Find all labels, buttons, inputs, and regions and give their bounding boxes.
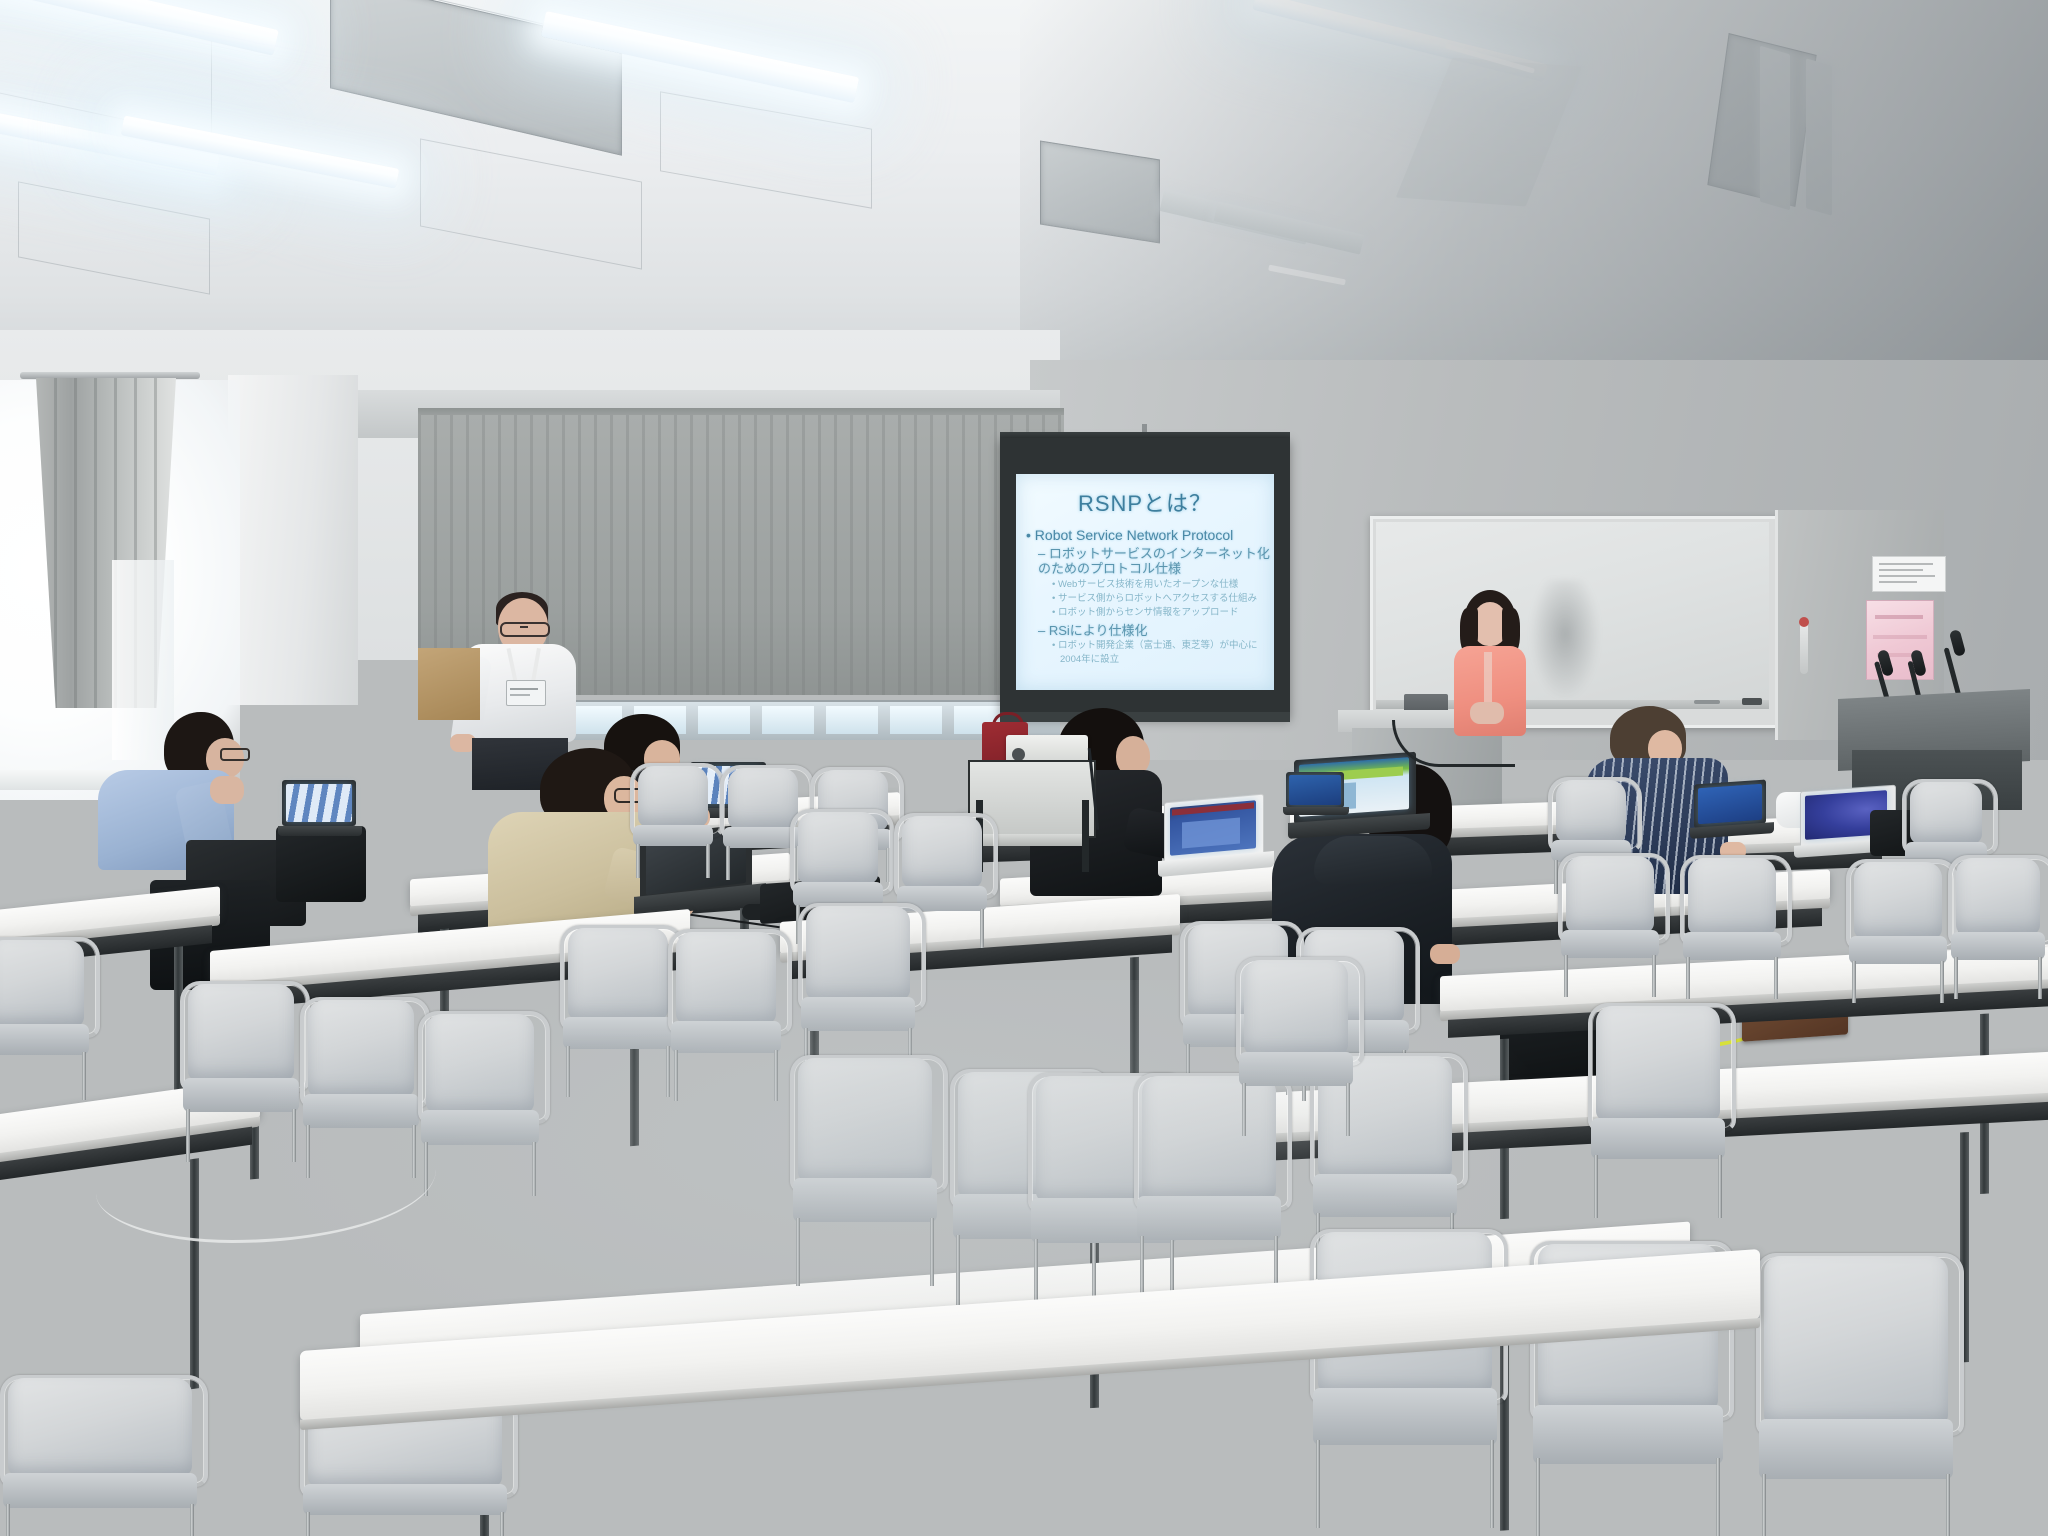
chair-row5-5[interactable] — [0, 1378, 200, 1536]
slide-bullet-6: – RSiにより仕様化 — [1038, 623, 1274, 638]
chair-row2-5[interactable] — [1846, 862, 1950, 986]
chair-row2-6[interactable] — [1948, 858, 2048, 982]
slide-bullet-5: • ロボット側からセンサ情報をアップロード — [1052, 607, 1274, 619]
glasses-bridge-icon — [520, 626, 528, 628]
slide-bullet-8: 2004年に設立 — [1060, 654, 1274, 666]
door-handle[interactable] — [1800, 622, 1808, 674]
badge-text-line — [510, 694, 530, 696]
speaker-shadow — [1530, 580, 1600, 700]
laptop-1[interactable] — [282, 780, 356, 838]
laptop-window — [1182, 817, 1240, 848]
glasses-icon — [220, 748, 250, 761]
slide-bullet-3: • Webサービス技術を用いたオープンな仕様 — [1052, 579, 1274, 591]
slide-surface: RSNPとは？ • Robot Service Network Protocol… — [1016, 474, 1274, 690]
chair-row3-1[interactable] — [0, 940, 92, 1080]
laptop-6[interactable] — [1694, 782, 1768, 840]
slide-bullet-4: • サービス側からロボットへアクセスする仕組み — [1052, 593, 1274, 605]
slide-bullet-2: – ロボットサービスのインターネット化のためのプロトコル仕様 — [1038, 546, 1274, 577]
chair-row2-3[interactable] — [1558, 856, 1662, 980]
cardboard-box — [418, 648, 480, 720]
table-row3-left — [0, 886, 220, 943]
chair-back-1[interactable] — [630, 766, 716, 864]
curtain-rod — [20, 372, 200, 379]
whiteboard-eraser — [1742, 698, 1762, 705]
notice-poster — [1872, 556, 1946, 592]
av-cart-leg — [1082, 800, 1089, 872]
whiteboard-marker — [1694, 700, 1720, 704]
wall-pillar — [228, 375, 358, 705]
chair-row2-4[interactable] — [1680, 858, 1784, 982]
laptop-screen — [1289, 775, 1341, 805]
slide-title: RSNPとは？ — [1016, 486, 1274, 518]
name-badge — [506, 680, 546, 706]
laptop-screen — [1698, 784, 1762, 824]
laptop-screen — [286, 784, 352, 822]
laptop-8[interactable] — [1286, 772, 1346, 818]
door-lock-indicator-icon — [1799, 617, 1809, 627]
badge-text-line — [510, 688, 538, 690]
laptop-4[interactable] — [1164, 798, 1266, 876]
glasses-icon — [500, 622, 550, 637]
hand — [1430, 944, 1460, 964]
hands — [210, 776, 244, 804]
hood — [1314, 836, 1432, 884]
slide-bullet-1: • Robot Service Network Protocol — [1026, 527, 1274, 543]
chair-row4-6[interactable] — [1588, 1006, 1728, 1192]
slide-bullet-7: • ロボット開発企業（富士通、東芝等）が中心に — [1052, 640, 1274, 652]
chair-row5-3[interactable] — [1756, 1256, 1956, 1528]
seminar-room-photo: RSNPとは？ • Robot Service Network Protocol… — [0, 0, 2048, 1536]
